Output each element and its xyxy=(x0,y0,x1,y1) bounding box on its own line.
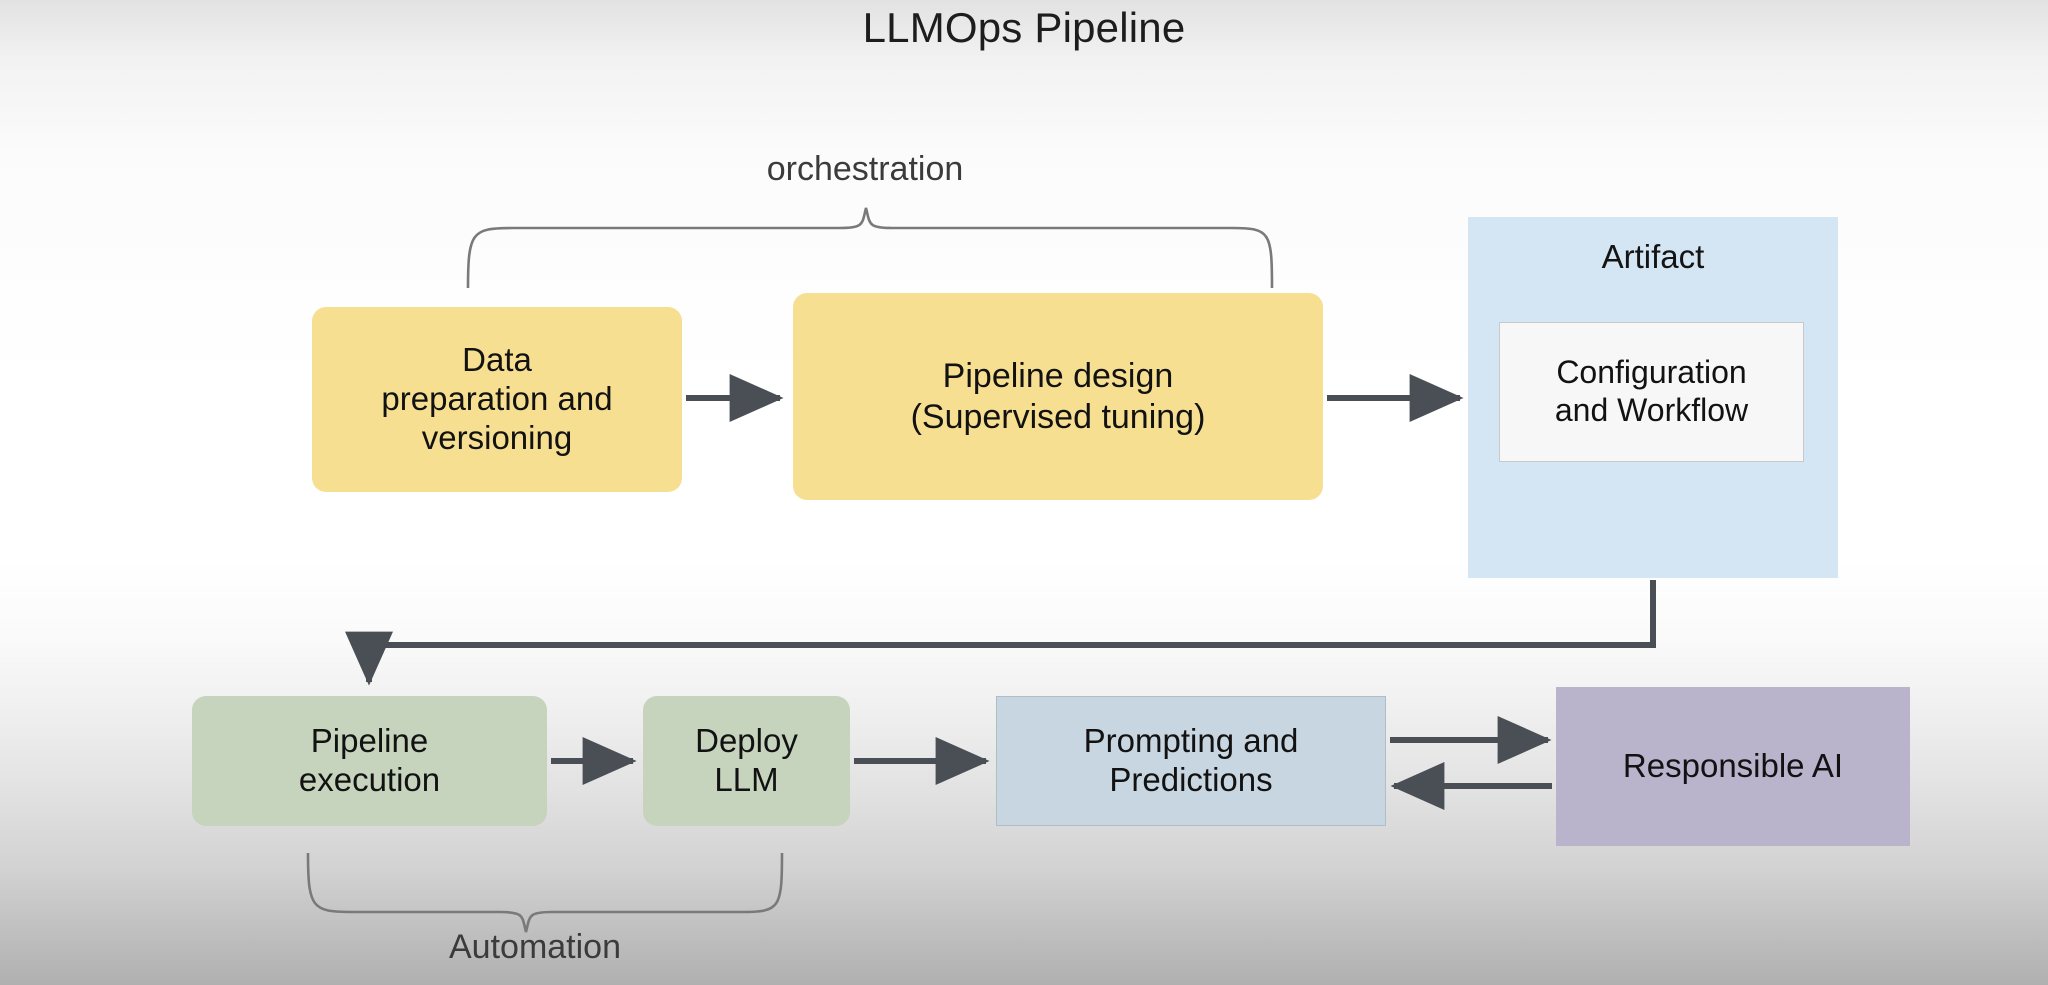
node-deploy-llm[interactable]: Deploy LLM xyxy=(643,696,850,826)
node-configuration-and-workflow[interactable]: Configuration and Workflow xyxy=(1499,322,1804,462)
artifact-title: Artifact xyxy=(1468,238,1838,276)
diagram-canvas: LLMOps Pipeline orchestration Automation… xyxy=(0,0,2048,985)
automation-brace xyxy=(308,853,782,932)
orchestration-label: orchestration xyxy=(640,150,1090,189)
node-responsible-ai[interactable]: Responsible AI xyxy=(1556,687,1910,846)
node-pipeline-execution[interactable]: Pipeline execution xyxy=(192,696,547,826)
node-data-preparation-and-versioning[interactable]: Data preparation and versioning xyxy=(312,307,682,492)
orchestration-brace xyxy=(468,208,1272,288)
page-title: LLMOps Pipeline xyxy=(0,4,2048,52)
node-pipeline-design[interactable]: Pipeline design (Supervised tuning) xyxy=(793,293,1323,500)
node-prompting-and-predictions[interactable]: Prompting and Predictions xyxy=(996,696,1386,826)
arrow-artifact-to-pipeline-execution xyxy=(369,580,1653,682)
automation-label: Automation xyxy=(310,928,760,967)
